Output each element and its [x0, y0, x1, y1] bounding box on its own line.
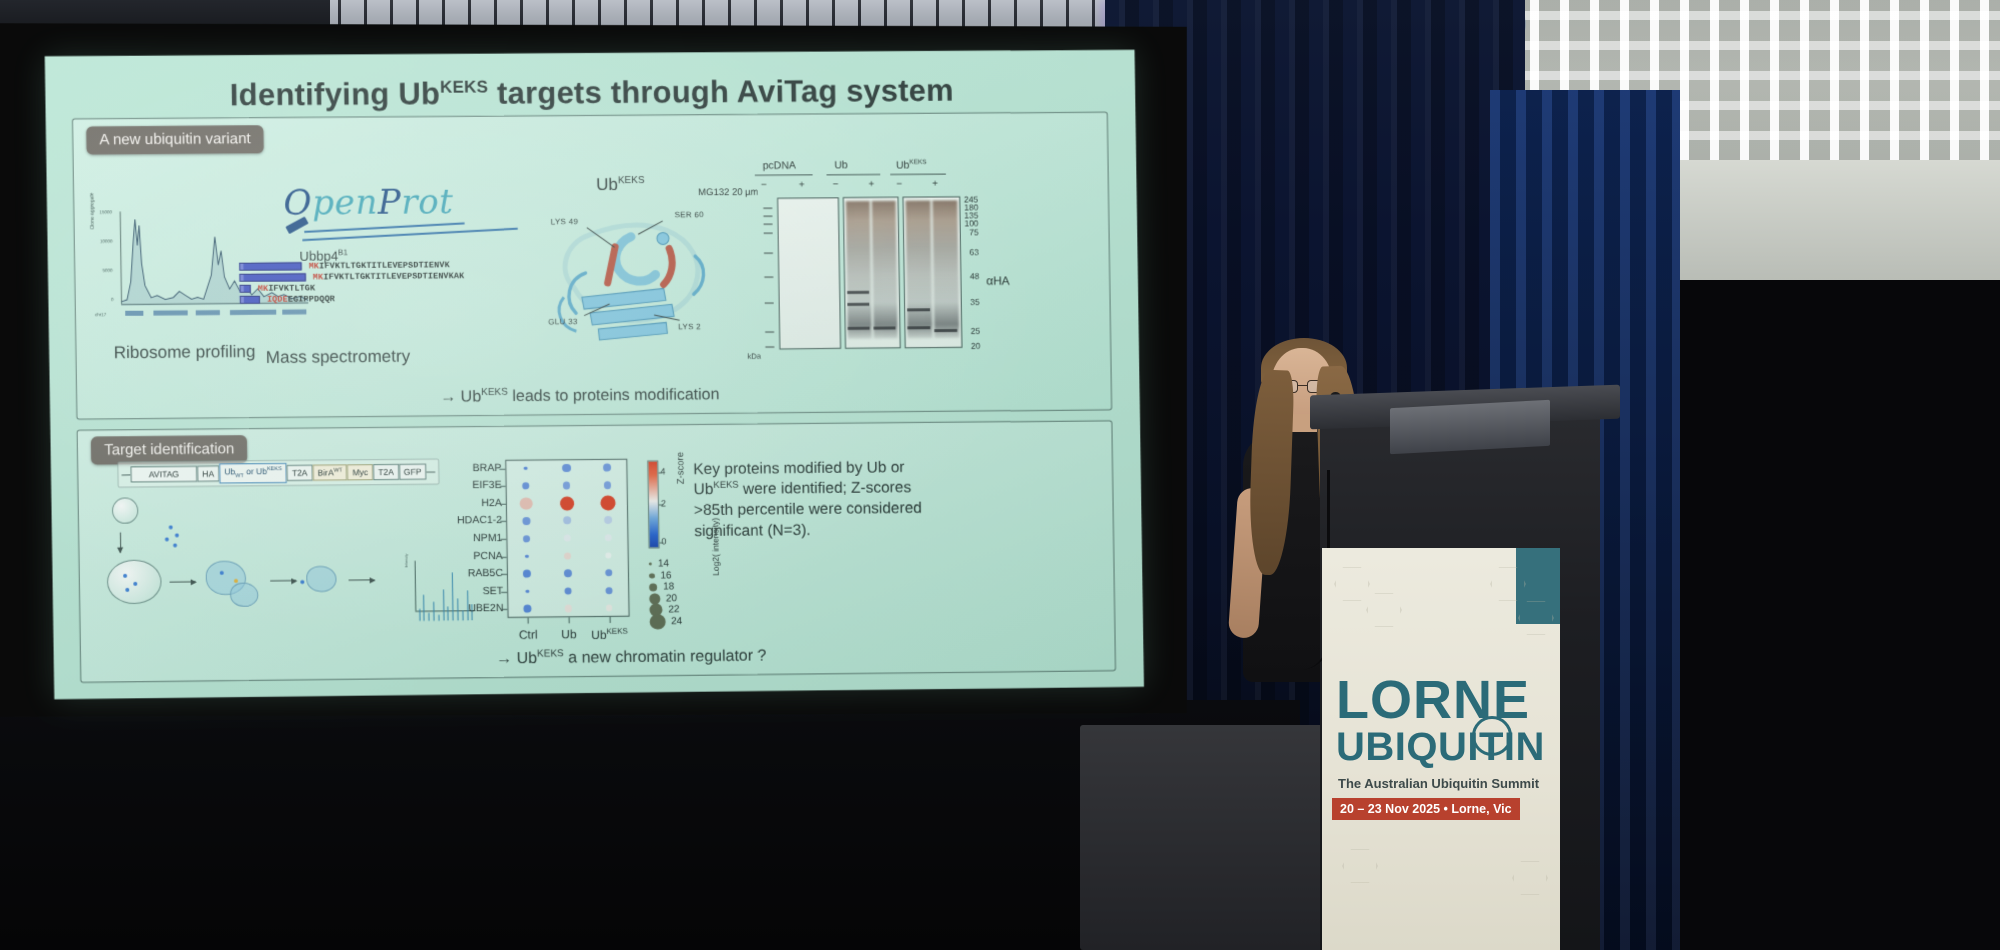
presentation-slide: Identifying UbKEKS targets through AviTa…: [45, 50, 1144, 699]
protein-dot: [220, 571, 224, 575]
lysate-blob: [230, 583, 259, 607]
projection-screen: Identifying UbKEKS targets through AviTa…: [0, 23, 1187, 717]
colorbar-dash-2: [659, 504, 663, 505]
openprot-pen: pen: [312, 183, 378, 224]
slide-title-suffix: targets through AviTag system: [488, 73, 954, 111]
biotin-dot: [175, 533, 179, 537]
blot-sign-pcdna-minus: −: [761, 180, 767, 191]
pulldown-blob: [306, 566, 337, 592]
blot-group-rule-1: [755, 174, 813, 175]
dotplot-ytick: [501, 592, 507, 593]
dotplot-point-rab5c-ctrl: [523, 570, 531, 578]
riboprof-ytick-0: 15000: [100, 210, 113, 215]
mw-dash-20: [765, 346, 774, 347]
blot-lane-pcdna: [777, 197, 841, 349]
mw-unit-label: kDa: [747, 352, 760, 361]
blot-band: [908, 326, 930, 329]
target-identification-dotplot: BRAPEIF3EH2AHDAC1-2NPM1PCNARAB5CSETUBE2N…: [451, 450, 684, 652]
workflow-arrow-down: [120, 532, 121, 552]
size-legend-dot: [649, 593, 660, 604]
key-text-line-4: significant (N=3).: [694, 521, 811, 539]
dotplot-point-brap-ubkeks: [603, 463, 612, 472]
riboprof-x-label: chr17: [95, 312, 106, 317]
dotplot-colorbar-title: Z-score: [675, 452, 686, 484]
banner-dates-badge: 20 – 23 Nov 2025 • Lorne, Vic: [1332, 798, 1520, 820]
size-legend-dot: [649, 573, 655, 579]
workflow-arrow-2: [270, 580, 296, 581]
dotplot-y-label-h2a: H2A: [371, 497, 502, 510]
key-text-ub: Ub: [694, 481, 714, 498]
cell-dot: [125, 588, 129, 592]
slide-title: Identifying UbKEKS targets through AviTa…: [45, 72, 1135, 115]
peptide-seq-body: IFVKTLTGKTITLEVEPSDTIENVK: [319, 260, 450, 271]
riboprof-ytick-1: 10000: [100, 239, 113, 244]
biotin-dot: [165, 537, 169, 541]
riboprof-gene-track-5: [282, 309, 306, 314]
peptide-sequence: IQDEEGIPPDQQR: [267, 294, 335, 305]
workflow-arrow-3: [349, 579, 375, 580]
dotplot-point-hdac1-2-ub: [563, 517, 571, 525]
blot-lane-group-ub: Ub: [834, 159, 848, 171]
dotplot-point-rab5c-ub: [564, 569, 572, 577]
peptide-coverage-bar: [239, 273, 305, 282]
biotin-dot: [169, 525, 173, 529]
banner-circle-mark-icon: [1472, 716, 1512, 756]
residue-label-ser60: SER 60: [675, 210, 704, 219]
blot-sign-ub-plus: +: [868, 179, 874, 190]
openprot-wordmark: OpenProt: [283, 182, 514, 224]
caption-mass-spectrometry: Mass spectrometry: [266, 347, 411, 368]
dotplot-ytick: [501, 574, 507, 575]
key-text-line-1: Key proteins modified by Ub or: [693, 459, 904, 478]
construct-box-t2a-1: T2A: [287, 464, 313, 481]
openprot-letter-p: P: [377, 182, 401, 222]
blot-lane-group-pcdna: pcDNA: [763, 160, 796, 172]
colorbar-dash-4: [658, 472, 662, 473]
residue-label-lys49: LYS 49: [551, 217, 579, 226]
size-legend-dot: [650, 614, 666, 630]
peptide-seq-body: EGIPPDQQR: [288, 294, 335, 304]
dotplot-xtick: [609, 617, 610, 623]
blot-sign-pcdna-plus: +: [799, 180, 805, 191]
blot-antibody-label: αHA: [986, 274, 1010, 288]
peptide-seq-head: MK: [258, 283, 269, 293]
peptide-seq-head: MK: [313, 272, 324, 282]
workflow-arrow-1: [170, 581, 196, 582]
biotin-dot: [173, 543, 177, 547]
ubiquitin-structure-figure: UbKEKS LYS 49 SER 60 GLU 33 LYS 2: [544, 174, 736, 355]
openprot-rot: rot: [401, 182, 454, 222]
blot-smear: [906, 201, 933, 339]
peptide-coverage-bar: [239, 262, 301, 271]
size-legend-row: 18: [649, 581, 719, 593]
slide-title-superscript: KEKS: [440, 77, 488, 96]
construct-box-myc: Myc: [347, 464, 373, 481]
riboprof-ytick-3: 0: [111, 297, 114, 302]
colorbar-tick-2: 2: [661, 498, 666, 508]
size-legend-row: 16: [649, 569, 719, 581]
dotplot-xtick: [569, 617, 570, 623]
dotplot-x-label-ub: Ub: [561, 627, 577, 641]
dotplot-x-label-ubkeks: UbKEKS: [591, 627, 628, 642]
riboprof-gene-track-2: [153, 310, 187, 315]
banner-subtitle: The Australian Ubiquitin Summit: [1338, 776, 1539, 791]
dotplot-point-ube2n-ubkeks: [606, 605, 613, 612]
size-legend-value: 16: [660, 570, 671, 581]
key-text-line-3: >85th percentile were considered: [694, 500, 922, 519]
peptide-sequence: MKIFVKTLTGKTITLEVEPSDTIENVKAK: [313, 271, 465, 282]
cell-dot: [133, 582, 137, 586]
blot-group-rule-3: [890, 174, 946, 175]
tag-dot: [234, 579, 238, 583]
blot-sign-ubkeks-plus: +: [932, 179, 938, 190]
dotplot-y-label-hdac1-2: HDAC1-2: [372, 514, 503, 527]
riboprof-ytick-2: 5000: [102, 268, 112, 273]
size-legend-row: 20: [649, 592, 719, 604]
blot-band: [907, 308, 929, 311]
mw-dash-75: [764, 233, 773, 234]
construct-left-line: [122, 474, 131, 475]
caption-ribosome-profiling: Ribosome profiling: [114, 342, 256, 363]
blot-smear: [846, 201, 872, 339]
dotplot-point-set-ctrl: [526, 590, 530, 594]
mw-dash-48: [764, 277, 773, 278]
peptide-protein-sup: B1: [338, 248, 348, 257]
blot-sign-ub-minus: −: [833, 179, 839, 190]
dotplot-y-label-rab5c: RAB5C: [372, 567, 503, 580]
banner-title-ubiquitin: UBIQUITIN: [1336, 728, 1545, 766]
dotplot-x-label-ctrl: Ctrl: [519, 628, 538, 642]
key-findings-text: Key proteins modified by Ub or UbKEKS we…: [693, 458, 933, 542]
dotplot-size-legend: 141618202224 Log2( intensity): [649, 558, 720, 628]
size-legend-value: 20: [666, 593, 677, 604]
bead-dot: [300, 580, 304, 584]
size-legend-dot: [649, 583, 657, 591]
construct-box-ub: UbWT or UbKEKS: [219, 463, 287, 484]
peptide-seq-head: IQDE: [267, 294, 288, 304]
peptide-coverage-bar: [240, 295, 260, 303]
dotplot-ytick: [500, 521, 506, 522]
size-legend-row: 24: [650, 615, 720, 627]
blot-sign-ubkeks-minus: −: [896, 179, 902, 190]
dotplot-ytick: [500, 504, 506, 505]
note-proteins-modification: → UbKEKS leads to proteins modification: [440, 385, 720, 407]
dotplot-point-h2a-ubkeks: [600, 495, 615, 510]
riboprof-gene-track-1: [125, 311, 143, 316]
mw-dash-63: [764, 253, 773, 254]
ub-keks-structure-label: UbKEKS: [596, 175, 645, 195]
dotplot-point-hdac1-2-ubkeks: [604, 516, 612, 524]
ub-label-sup: KEKS: [618, 175, 645, 186]
dotplot-ytick: [500, 539, 506, 540]
conference-banner: LORNE UBIQUITIN The Australian Ubiquitin…: [1322, 548, 1560, 950]
peptide-sequence: MKIFVKTLTGK: [258, 283, 316, 293]
peptide-coverage-bar: [240, 284, 251, 292]
dotplot-point-pcna-ctrl: [525, 554, 529, 558]
size-legend-value: 14: [658, 559, 669, 570]
construct-box-ha: HA: [197, 465, 219, 482]
riboprof-y-label: Clone aggregate: [89, 193, 96, 230]
peptide-evidence-list: Ubbp4B1 MKIFVKTLTGKTITLEVEPSDTIENVK MKIF…: [239, 259, 491, 305]
dotplot-y-label-ube2n: UBE2N: [373, 602, 504, 615]
dotplot-ytick: [501, 556, 507, 557]
slide-title-prefix: Identifying Ub: [230, 76, 441, 112]
colorbar-dash-0: [659, 542, 663, 543]
residue-label-glu33: GLU 33: [548, 317, 578, 326]
blot-band: [848, 303, 870, 306]
blot-smear: [872, 201, 898, 339]
dotplot-y-label-npm1: NPM1: [372, 532, 503, 545]
blot-lane-ub: [843, 197, 901, 349]
construct-box-bira: BirAWT: [312, 464, 347, 481]
laptop: [1390, 400, 1550, 454]
mg132-treatment-label: MG132 20 µm: [698, 187, 758, 198]
key-text-line-2: were identified; Z-scores: [739, 480, 912, 499]
colorbar-tick-4: 4: [660, 466, 665, 476]
dotplot-point-brap-ctrl: [524, 467, 528, 471]
ub-label-base: Ub: [596, 175, 618, 194]
openprot-logo: OpenProt: [283, 182, 515, 248]
dotplot-point-h2a-ub: [560, 496, 574, 510]
cell-dot: [123, 574, 127, 578]
construct-box-avitag: AVITAG: [130, 466, 197, 483]
dotplot-point-eif3e-ctrl: [523, 483, 530, 490]
blot-band: [874, 327, 896, 330]
dotplot-point-npm1-ctrl: [523, 535, 530, 542]
dotplot-point-brap-ub: [562, 464, 571, 473]
mw-dash-135: [763, 216, 772, 217]
dotplot-point-ube2n-ctrl: [524, 605, 532, 613]
dotplot-y-label-set: SET: [373, 585, 504, 598]
blot-group-rule-2: [827, 174, 881, 175]
mw-dash-35: [765, 303, 774, 304]
peptide-seq-body: IFVKTLTGKTITLEVEPSDTIENVKAK: [323, 271, 464, 282]
note-chromatin-regulator: → UbKEKS a new chromatin regulator ?: [496, 646, 766, 668]
mw-dash-180: [763, 208, 772, 209]
peptide-row: IQDEEGIPPDQQR: [240, 292, 491, 305]
dotplot-ytick: [501, 609, 507, 610]
residue-label-lys2: LYS 2: [678, 322, 701, 331]
spectrum-peak: [438, 615, 439, 621]
mw-dash-100: [764, 224, 773, 225]
western-blot-figure: MG132 20 µm pcDNA Ub UbKEKS − + − + − + …: [739, 158, 981, 364]
blot-band: [934, 329, 956, 332]
panel-a-tab-label: A new ubiquitin variant: [86, 125, 264, 154]
dotplot-y-label-pcna: PCNA: [372, 550, 503, 563]
dotplot-y-label-brap: BRAP: [371, 462, 502, 475]
size-legend-dot: [649, 563, 652, 566]
peptide-sequence: MKIFVKTLTGKTITLEVEPSDTIENVK: [309, 260, 450, 271]
size-legend-row: 14: [649, 558, 719, 570]
blot-lane-group-ubkeks: UbKEKS: [896, 159, 927, 172]
blot-smear: [933, 200, 960, 338]
size-legend-value: 24: [671, 616, 682, 627]
dotplot-ytick: [500, 486, 506, 487]
dotplot-y-label-eif3e: EIF3E: [371, 479, 502, 492]
dotplot-colorbar: [647, 460, 659, 548]
colorbar-tick-0: 0: [661, 536, 666, 546]
dotplot-point-pcna-ubkeks: [605, 552, 612, 559]
dotplot-xtick: [528, 618, 529, 624]
peptide-seq-head: MK: [309, 261, 320, 271]
riboprof-gene-track-3: [196, 310, 220, 315]
blot-lane-ubkeks: [903, 196, 963, 348]
blot-band: [848, 327, 870, 330]
blot-band: [847, 291, 869, 294]
size-legend-value: 18: [663, 581, 674, 592]
size-legend-value: 22: [668, 604, 679, 615]
mw-dash-25: [765, 332, 774, 333]
peptide-seq-body: IFVKTLTGK: [268, 283, 315, 293]
key-text-ub-sup: KEKS: [713, 480, 738, 491]
glasses-bridge: [1298, 385, 1307, 386]
dotplot-ytick: [499, 469, 505, 470]
riboprof-gene-track-4: [230, 310, 276, 315]
cell-icon: [112, 497, 139, 523]
